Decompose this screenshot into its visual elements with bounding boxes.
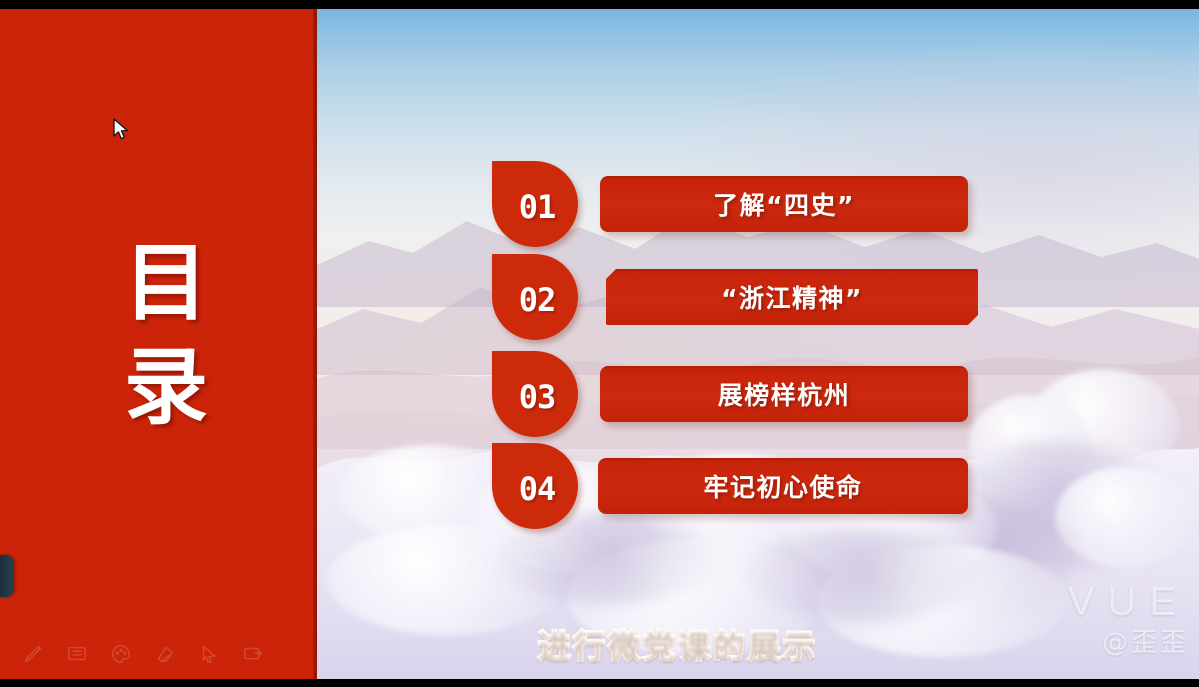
palette-icon[interactable] <box>110 643 132 665</box>
page-title: 目录 <box>112 231 222 439</box>
contents-number-badge-03[interactable]: 03 <box>492 351 578 437</box>
presentation-slide: 01 了解“四史” 02 “浙江精神” 03 <box>0 9 1199 679</box>
contents-label-pill-03[interactable]: 展榜样杭州 <box>600 366 968 422</box>
sidebar-panel: 目录 <box>0 9 317 679</box>
contents-list: 01 了解“四史” 02 “浙江精神” 03 <box>317 9 1199 679</box>
panel-handle[interactable] <box>0 555 14 597</box>
contents-label-pill-01[interactable]: 了解“四史” <box>600 176 968 232</box>
annotation-toolbar[interactable] <box>22 643 264 665</box>
contents-label-03: 展榜样杭州 <box>718 376 851 412</box>
contents-label-02: “浙江精神” <box>721 279 863 315</box>
slide-caption: 进行微党课的展示 <box>317 621 1199 667</box>
slide-background-scene: 01 了解“四史” 02 “浙江精神” 03 <box>317 9 1199 679</box>
contents-label-pill-02[interactable]: “浙江精神” <box>606 269 978 325</box>
pen-icon[interactable] <box>22 643 44 665</box>
watermark-handle: @歪歪 <box>1068 627 1189 659</box>
contents-label-04: 牢记初心使命 <box>703 468 862 504</box>
contents-number-badge-02[interactable]: 02 <box>492 254 578 340</box>
contents-number-01: 01 <box>519 188 556 226</box>
screen-share-icon[interactable] <box>242 643 264 665</box>
screen-root: 01 了解“四史” 02 “浙江精神” 03 <box>0 0 1199 687</box>
mouse-cursor <box>113 118 131 142</box>
contents-number-04: 04 <box>519 470 556 508</box>
contents-label-pill-04[interactable]: 牢记初心使命 <box>598 458 968 514</box>
letterbox-bottom <box>0 679 1199 687</box>
contents-label-01: 了解“四史” <box>713 186 855 222</box>
slide-caption-text: 进行微党课的展示 <box>538 621 818 667</box>
contents-number-03: 03 <box>519 378 556 416</box>
contents-number-badge-01[interactable]: 01 <box>492 161 578 247</box>
contents-item-02[interactable]: 02 “浙江精神” <box>317 249 1199 345</box>
contents-item-04[interactable]: 04 牢记初心使命 <box>317 438 1199 534</box>
contents-number-02: 02 <box>519 281 556 319</box>
pointer-icon[interactable] <box>198 643 220 665</box>
contents-number-badge-04[interactable]: 04 <box>492 443 578 529</box>
contents-item-03[interactable]: 03 展榜样杭州 <box>317 346 1199 442</box>
screen-icon[interactable] <box>66 643 88 665</box>
letterbox-top <box>0 0 1199 9</box>
contents-item-01[interactable]: 01 了解“四史” <box>317 156 1199 252</box>
eraser-icon[interactable] <box>154 643 176 665</box>
watermark-brand: VUE <box>1068 579 1189 625</box>
vue-watermark: VUE @歪歪 <box>1068 579 1189 659</box>
